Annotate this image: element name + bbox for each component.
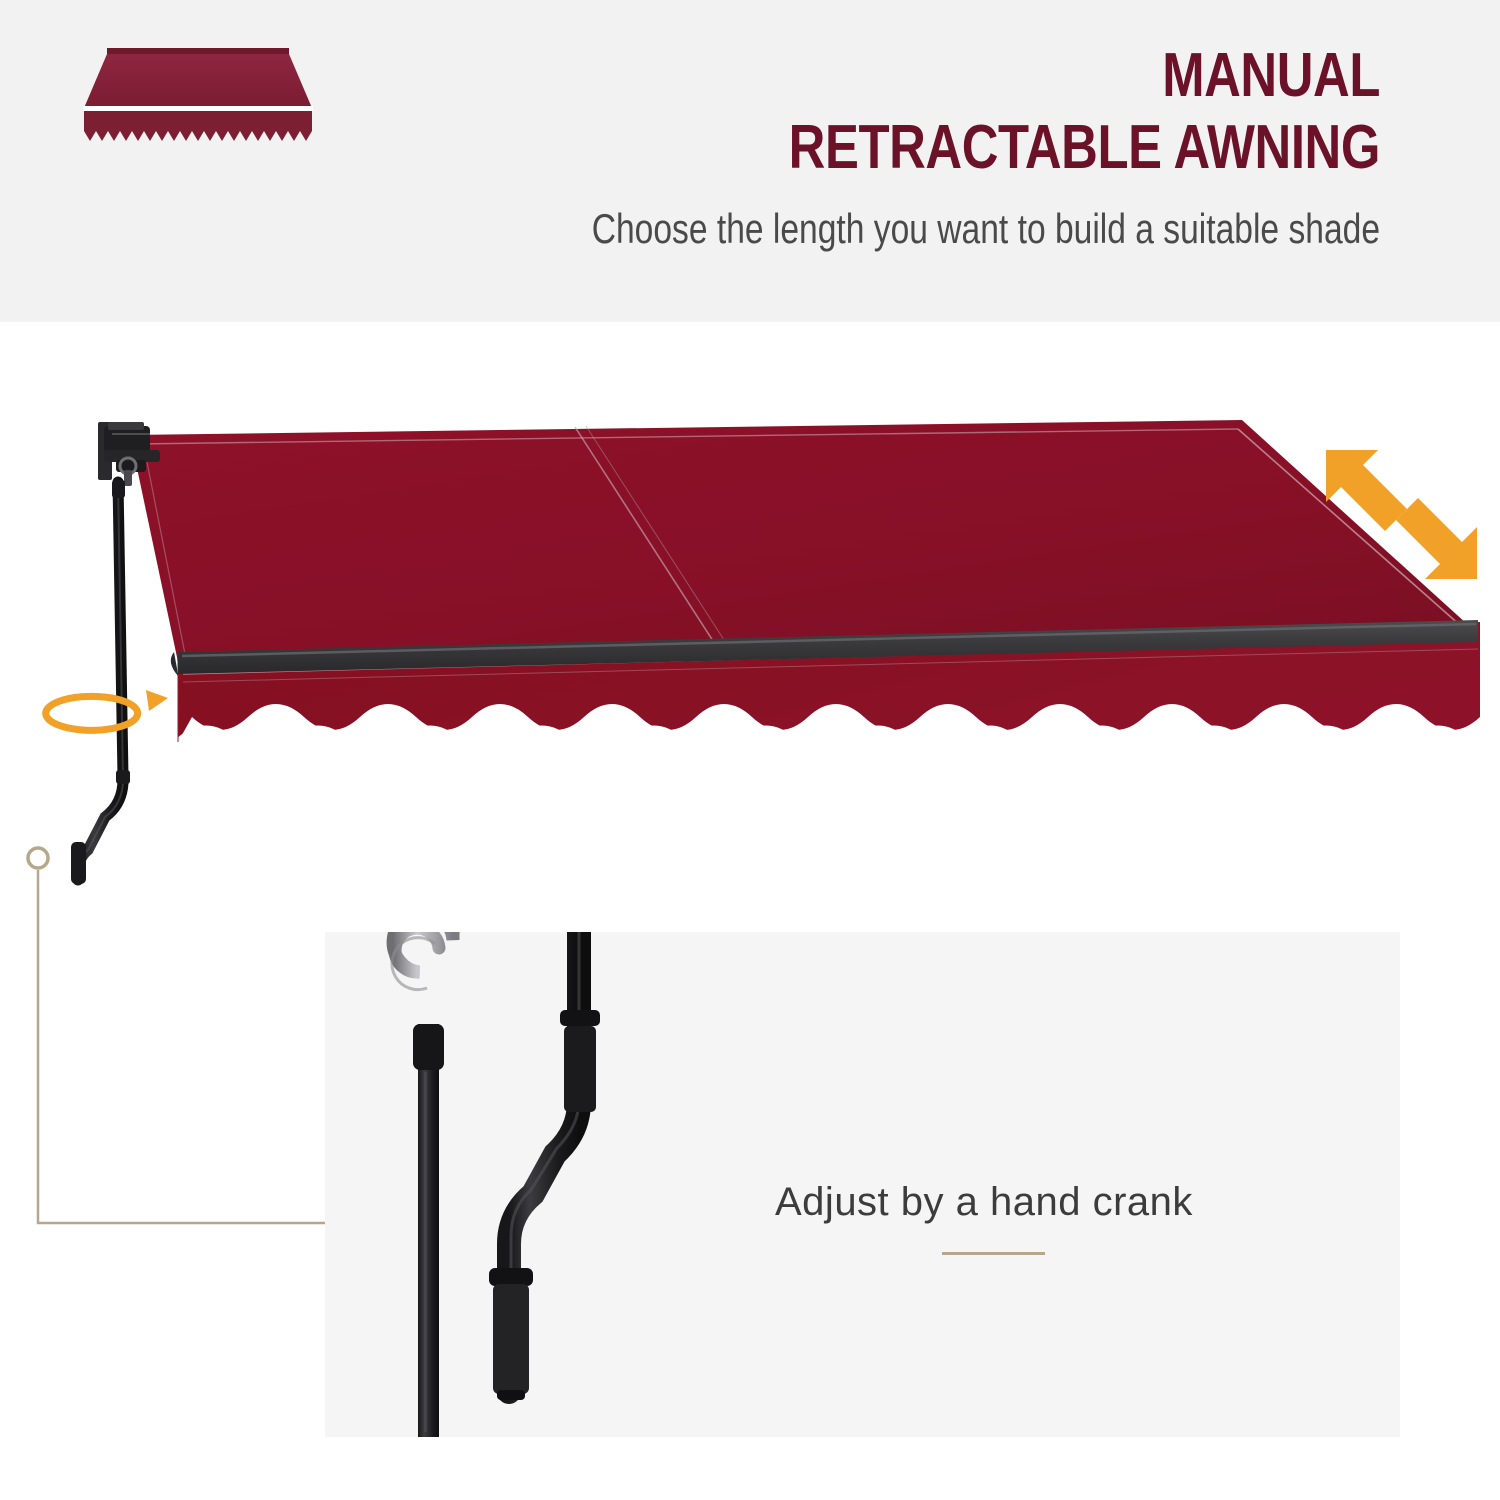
panel-caption: Adjust by a hand crank xyxy=(775,1180,1295,1225)
handle-end-cap xyxy=(497,1390,525,1400)
product-infographic: MANUAL RETRACTABLE AWNING Choose the len… xyxy=(0,0,1500,1500)
title-line-1: MANUAL xyxy=(511,40,1380,112)
handle-grip-lower xyxy=(493,1284,529,1394)
awning-logo xyxy=(78,48,318,143)
rod-shaft xyxy=(418,1024,439,1437)
crank-rod-collar-top xyxy=(112,480,125,498)
callout-marker xyxy=(28,848,48,868)
panel-caption-rule xyxy=(942,1252,1045,1255)
valance-trim xyxy=(178,729,1466,755)
header-subtitle: Choose the length you want to build a su… xyxy=(500,205,1380,253)
crank-rotation-arrow xyxy=(46,690,168,730)
handle-collar-upper xyxy=(560,1010,600,1026)
crank-rod xyxy=(71,480,130,884)
handle-collar-lower xyxy=(489,1268,533,1286)
crank-rod-collar-bend xyxy=(116,770,130,784)
header-band: MANUAL RETRACTABLE AWNING Choose the len… xyxy=(0,0,1500,322)
crank-rod-with-hook xyxy=(392,932,453,1437)
title-line-2: RETRACTABLE AWNING xyxy=(511,112,1380,184)
handle-grip-upper xyxy=(564,1026,596,1112)
rod-collar xyxy=(413,1024,444,1070)
crank-handle-rod xyxy=(489,932,600,1400)
header-titles: MANUAL RETRACTABLE AWNING xyxy=(320,40,1380,184)
awning-icon xyxy=(78,48,318,143)
